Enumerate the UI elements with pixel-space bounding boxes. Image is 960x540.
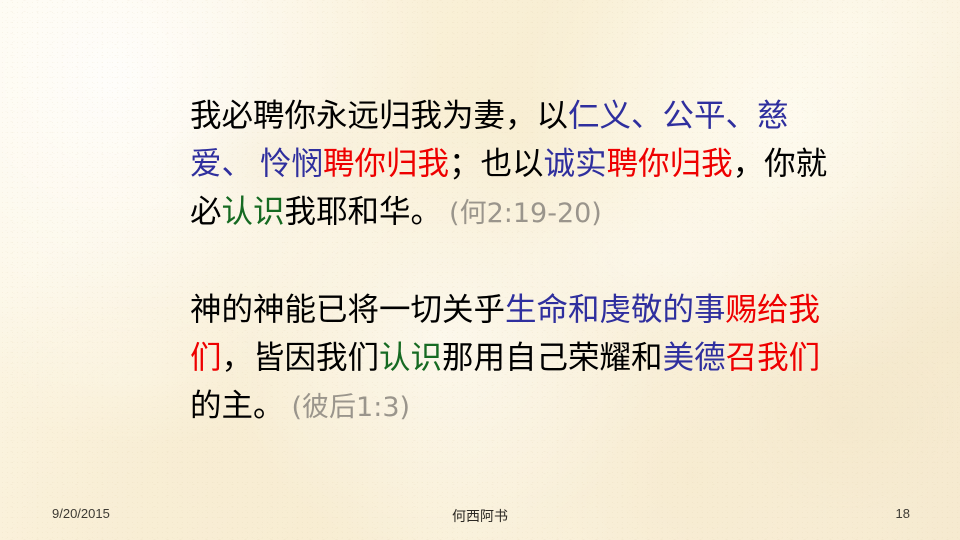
verse-segment-green: 认识 [379, 340, 442, 376]
verse-segment-blue: 美德 [663, 340, 726, 376]
slide-body-content: 我必聘你永远归我为妻，以仁义、公平、慈爱、怜悯聘你归我；也以诚实聘你归我，你就必… [190, 92, 830, 432]
verse-segment-black: 我耶和华。 [285, 194, 443, 230]
verse-segment-black: ；也以 [449, 146, 544, 182]
slide-canvas: 我必聘你永远归我为妻，以仁义、公平、慈爱、怜悯聘你归我；也以诚实聘你归我，你就必… [0, 0, 960, 540]
verse-segment-black: ，皆因我们 [222, 340, 380, 376]
verse-segment-red: 聘你归我 [607, 146, 733, 182]
scripture-reference: (彼后1:3) [292, 392, 411, 423]
verse-segment-black: 那用自己荣耀和 [442, 340, 663, 376]
verse-segment-black: 神的神能已将一切关乎 [190, 292, 505, 328]
footer-title: 何西阿书 [0, 506, 960, 526]
footer-page-number: 18 [896, 506, 910, 521]
scripture-reference: (何2:19-20) [449, 198, 602, 229]
verse-segment-red: 聘你归我 [323, 146, 449, 182]
verse-paragraph-hosea: 我必聘你永远归我为妻，以仁义、公平、慈爱、怜悯聘你归我；也以诚实聘你归我，你就必… [190, 92, 830, 238]
verse-segment-blue: 怜悯 [260, 146, 323, 182]
verse-segment-green: 认识 [222, 194, 285, 230]
verse-segment-blue: 仁义、公平、 [568, 98, 757, 134]
verse-paragraph-second-peter: 神的神能已将一切关乎生命和虔敬的事赐给我们，皆因我们认识那用自己荣耀和美德召我们… [190, 286, 830, 432]
verse-segment-black: 我必聘你永远归我为妻，以 [190, 98, 568, 134]
verse-segment-blue: 生命和虔敬的事 [505, 292, 726, 328]
verse-segment-blue: 诚实 [544, 146, 607, 182]
verse-segment-red: 召我们 [726, 340, 821, 376]
slide-footer: 9/20/2015 何西阿书 18 [0, 494, 960, 540]
verse-segment-black: 的主。 [190, 388, 285, 424]
